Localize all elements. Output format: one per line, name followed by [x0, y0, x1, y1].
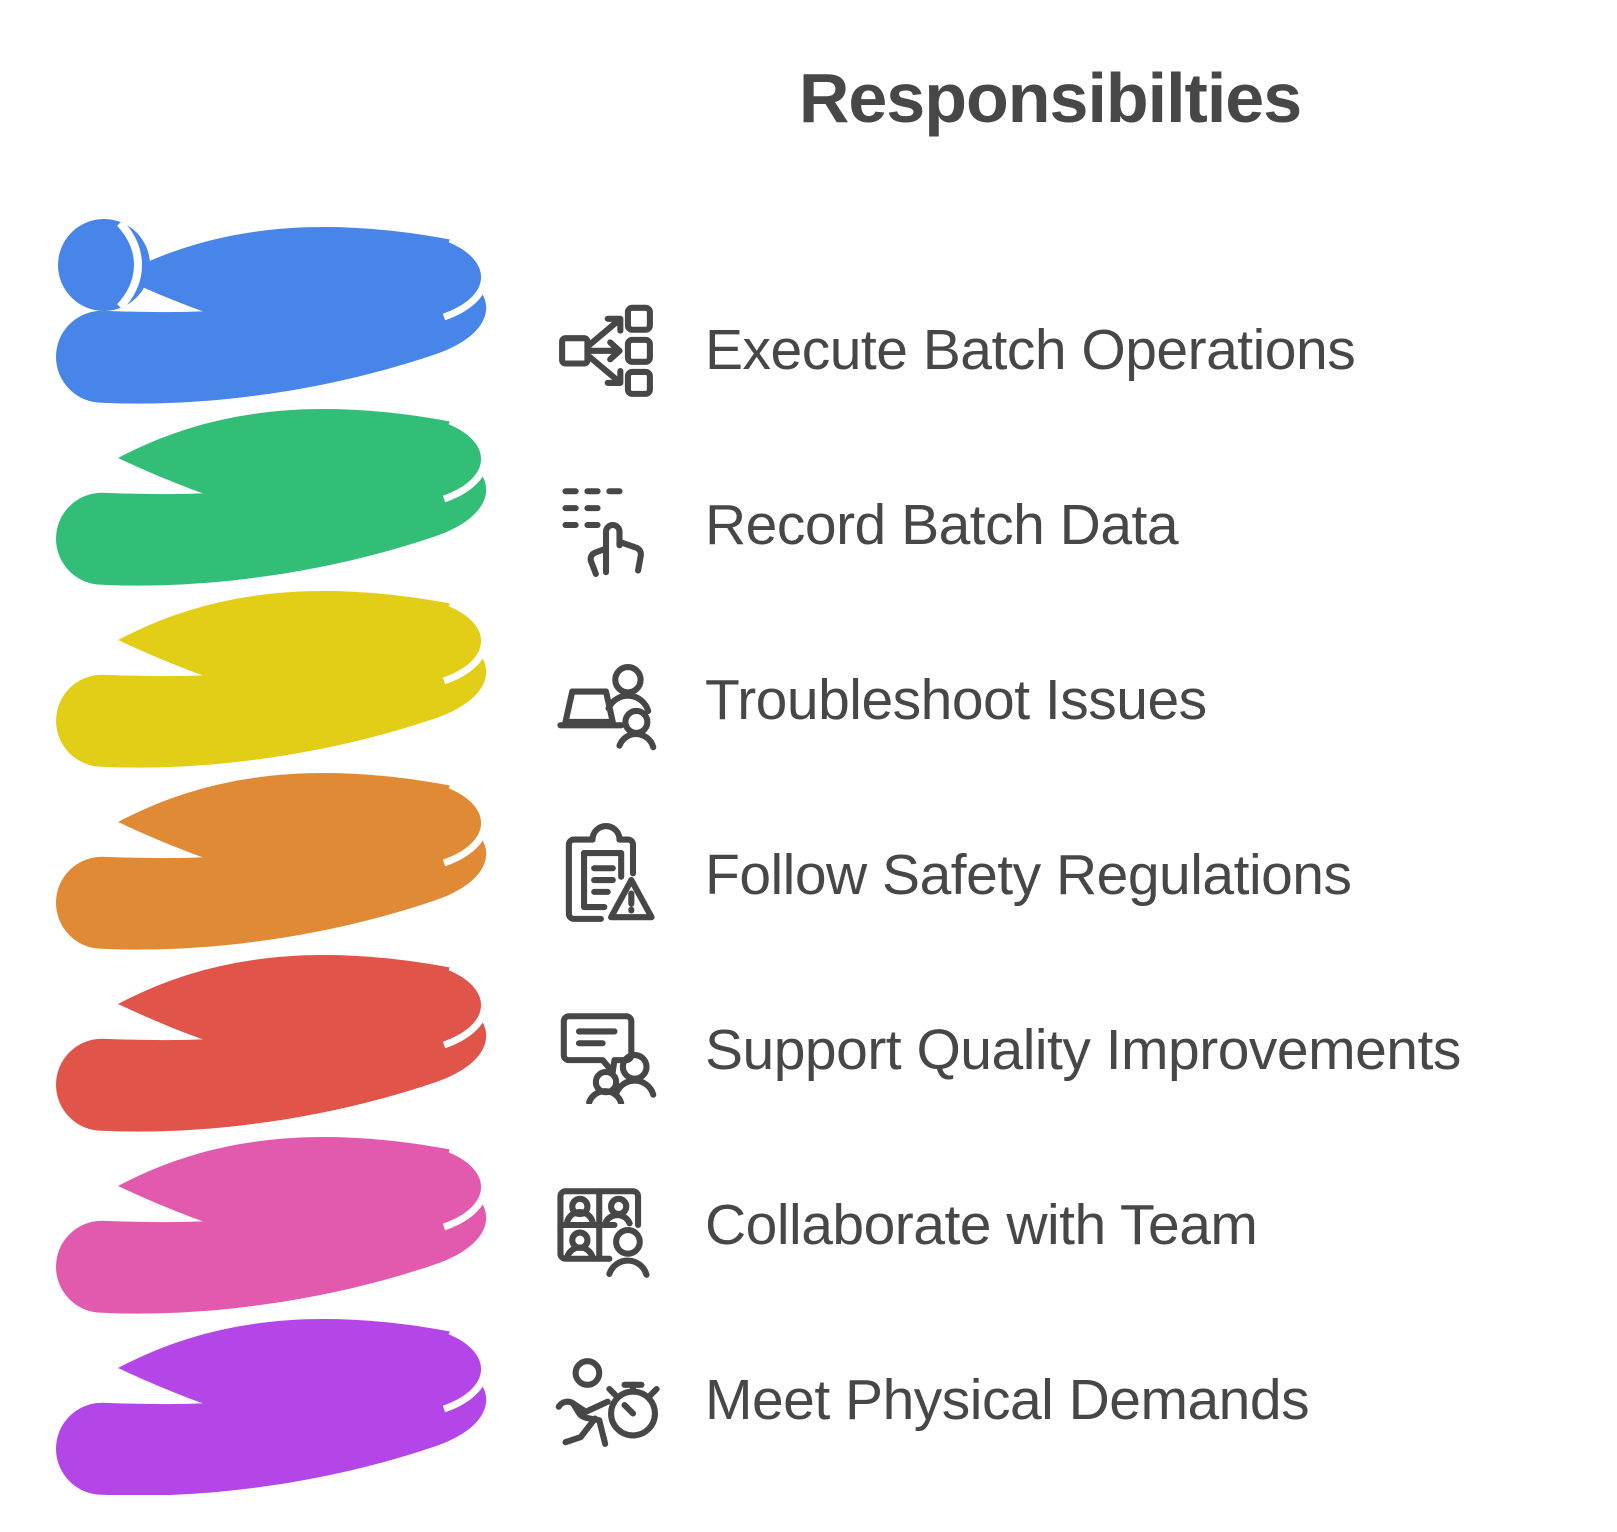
list-item-label: Meet Physical Demands [705, 1367, 1309, 1433]
batch-distribute-icon [545, 289, 667, 411]
spiral-graphic [46, 205, 506, 1495]
list-item-label: Collaborate with Team [705, 1192, 1257, 1258]
laptop-support-people-icon [545, 639, 667, 761]
list-item[interactable]: Collaborate with Team [545, 1137, 1585, 1312]
runner-stopwatch-icon [545, 1339, 667, 1461]
list-item[interactable]: Support Quality Improvements [545, 962, 1585, 1137]
list-item-label: Record Batch Data [705, 492, 1178, 558]
page-title: Responsibilties [520, 60, 1580, 137]
infographic-root: Responsibilties [0, 0, 1617, 1532]
responsibilities-list: Execute Batch Operations Record Batch Da… [545, 262, 1585, 1487]
list-item-label: Troubleshoot Issues [705, 667, 1207, 733]
clipboard-warning-icon [545, 814, 667, 936]
speech-bubble-people-icon [545, 989, 667, 1111]
list-item-label: Execute Batch Operations [705, 317, 1355, 383]
list-item[interactable]: Execute Batch Operations [545, 262, 1585, 437]
list-item[interactable]: Record Batch Data [545, 437, 1585, 612]
list-item-label: Follow Safety Regulations [705, 842, 1352, 908]
pointing-hand-data-entry-icon [545, 464, 667, 586]
list-item[interactable]: Follow Safety Regulations [545, 787, 1585, 962]
list-item[interactable]: Troubleshoot Issues [545, 612, 1585, 787]
list-item-label: Support Quality Improvements [705, 1017, 1461, 1083]
video-conference-grid-icon [545, 1164, 667, 1286]
list-item[interactable]: Meet Physical Demands [545, 1312, 1585, 1487]
